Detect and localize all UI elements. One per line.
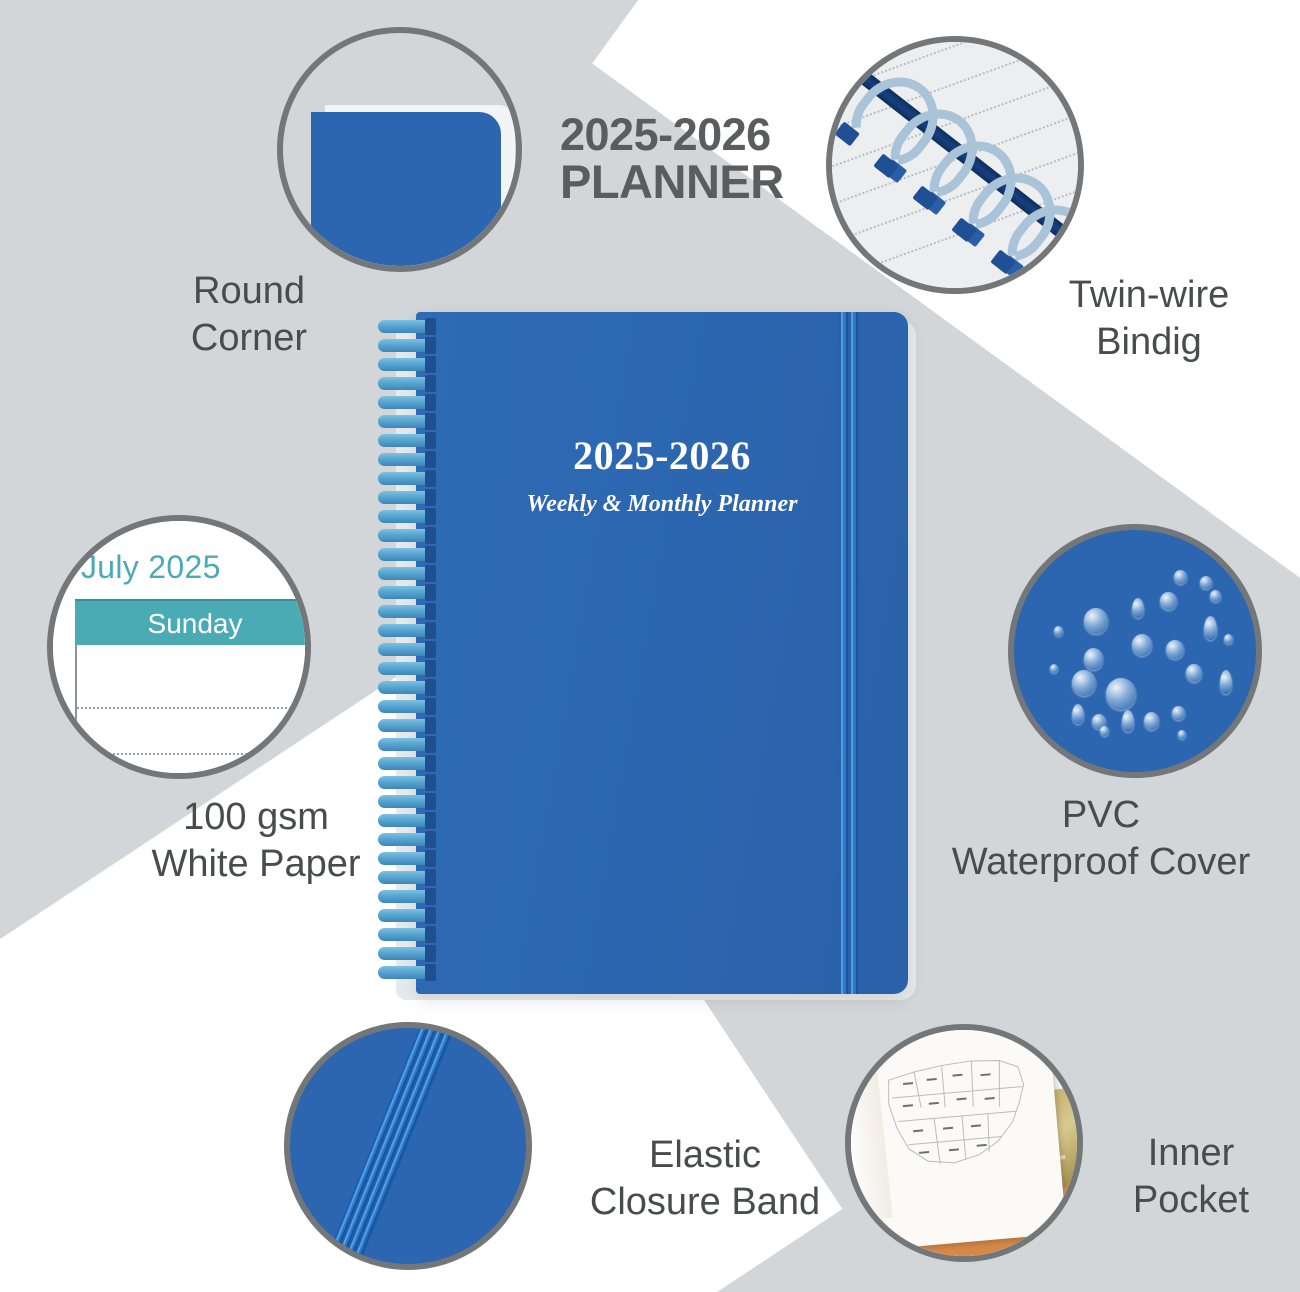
coil-ring [378,586,434,599]
feature-bubble-elastic-band [284,1022,532,1270]
feature-label-inner-pocket: Inner Pocket [1082,1130,1300,1223]
coil-ring [378,320,434,333]
coil-ring [378,852,434,865]
coil-ring [378,396,434,409]
coil-ring [378,567,434,580]
feature-label-twin-wire: Twin-wire Bindig [1008,272,1290,365]
coil-ring [378,966,434,979]
planner-elastic-band [838,312,860,994]
coil-ring [378,776,434,789]
calendar-month-title: July 2025 [81,549,221,586]
planner-cover-title: 2025-2026 [416,432,908,479]
planner-spiral-coil [378,320,436,988]
coil-ring [378,719,434,732]
coil-ring [378,605,434,618]
coil-ring [378,377,434,390]
coil-ring [378,947,434,960]
planner-front-cover [416,312,908,994]
water-droplets-icon [1014,530,1256,772]
coil-ring [378,624,434,637]
coil-ring [378,548,434,561]
feature-label-white-paper: 100 gsm White Paper [96,794,416,887]
inner-pocket-icon [851,1030,1077,1256]
coil-ring [378,757,434,770]
coil-ring [378,415,434,428]
feature-bubble-round-corner [277,27,522,272]
coil-ring [378,700,434,713]
feature-label-round-corner: Round Corner [120,268,378,361]
coil-ring [378,681,434,694]
coil-ring [378,890,434,903]
coil-ring [378,339,434,352]
elastic-band-icon [306,1022,465,1270]
spiral-binding-icon [832,42,1078,288]
coil-ring [378,738,434,751]
calendar-day-header-label: Sunday [75,601,311,647]
coil-ring [378,833,434,846]
calendar-page-icon: July 2025 Sunday [53,521,305,773]
coil-ring [378,643,434,656]
infographic-canvas: 2025-2026 PLANNER Round Corner Twin-wire… [0,0,1300,1292]
coil-ring [378,909,434,922]
coil-ring [378,928,434,941]
coil-ring [378,814,434,827]
feature-bubble-twin-wire [826,36,1084,294]
calendar-day-cell [75,645,311,779]
coil-ring [378,358,434,371]
coil-ring [378,795,434,808]
calendar-day-header: Sunday [75,599,311,647]
planner-cover-subtitle: Weekly & Monthly Planner [416,491,908,518]
us-map-icon [877,1028,1040,1191]
planner-cover-text: 2025-2026 Weekly & Monthly Planner [416,432,908,518]
coil-ring [378,662,434,675]
coil-ring [378,529,434,542]
feature-bubble-inner-pocket [845,1024,1083,1262]
feature-bubble-pvc-cover [1008,524,1262,778]
feature-label-pvc-cover: PVC Waterproof Cover [906,792,1296,885]
coil-ring [378,871,434,884]
rounded-corner-icon [311,112,501,272]
feature-label-elastic-band: Elastic Closure Band [545,1132,865,1225]
feature-bubble-white-paper: July 2025 Sunday [47,515,311,779]
